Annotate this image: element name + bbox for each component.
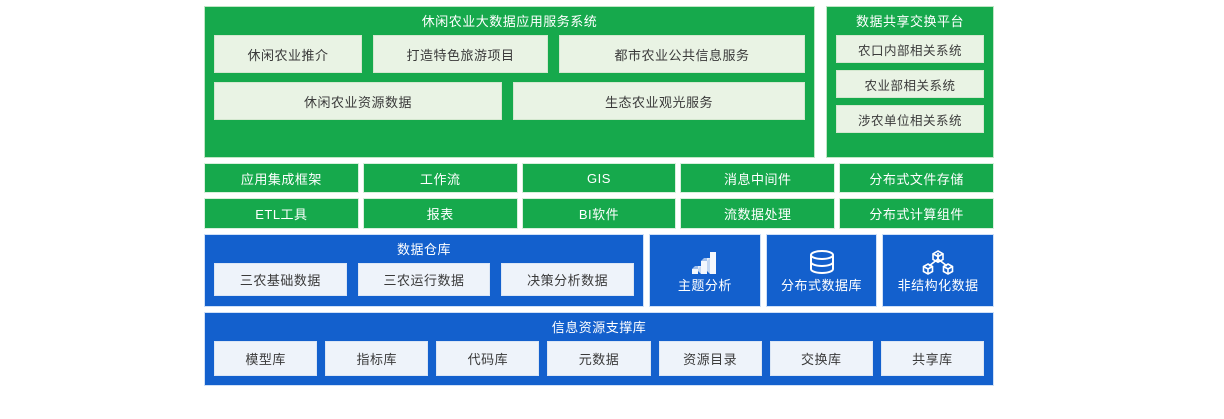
middleware-row-2: ETL工具 报表 BI软件 流数据处理 分布式计算组件 [204,198,994,229]
data-share-exchange-title: 数据共享交换平台 [836,7,984,35]
middleware-app-integration-framework[interactable]: 应用集成框架 [204,163,359,194]
data-warehouse-items: 三农基础数据 三农运行数据 决策分析数据 [214,263,634,296]
app-item-resource-data[interactable]: 休闲农业资源数据 [214,82,502,120]
share-item-ministry-system[interactable]: 农业部相关系统 [836,70,984,98]
database-icon [807,250,837,276]
data-warehouse-row: 数据仓库 三农基础数据 三农运行数据 决策分析数据 主题分析 [204,234,994,307]
analysis-card-unstructured-data[interactable]: 非结构化数据 [882,234,994,307]
architecture-diagram: 休闲农业大数据应用服务系统 休闲农业推介 打造特色旅游项目 都市农业公共信息服务… [204,6,994,386]
share-item-internal-system[interactable]: 农口内部相关系统 [836,35,984,63]
analysis-card-distributed-database[interactable]: 分布式数据库 [766,234,878,307]
bar-chart-icon [689,250,721,276]
middleware-workflow[interactable]: 工作流 [363,163,518,194]
analysis-card-theme-analysis-label: 主题分析 [678,279,732,292]
share-item-agri-unit-system[interactable]: 涉农单位相关系统 [836,105,984,133]
data-warehouse-title: 数据仓库 [214,235,634,263]
middleware-distributed-file-storage[interactable]: 分布式文件存储 [839,163,994,194]
resource-item-metadata[interactable]: 元数据 [547,341,650,376]
resource-item-exchange-base[interactable]: 交换库 [770,341,873,376]
middleware-row-1: 应用集成框架 工作流 GIS 消息中间件 分布式文件存储 [204,163,994,194]
middleware-stream-processing[interactable]: 流数据处理 [680,198,835,229]
data-share-exchange-panel: 数据共享交换平台 农口内部相关系统 农业部相关系统 涉农单位相关系统 [826,6,994,158]
middleware-message-middleware[interactable]: 消息中间件 [680,163,835,194]
app-item-public-info-service[interactable]: 都市农业公共信息服务 [559,35,805,73]
resource-item-code-base[interactable]: 代码库 [436,341,539,376]
resource-item-resource-catalog[interactable]: 资源目录 [659,341,762,376]
resource-item-indicator-base[interactable]: 指标库 [325,341,428,376]
information-resource-title: 信息资源支撑库 [214,313,984,341]
data-warehouse-panel: 数据仓库 三农基础数据 三农运行数据 决策分析数据 [204,234,644,307]
middleware-distributed-computing[interactable]: 分布式计算组件 [839,198,994,229]
app-item-recommend[interactable]: 休闲农业推介 [214,35,362,73]
resource-item-model-base[interactable]: 模型库 [214,341,317,376]
application-service-title: 休闲农业大数据应用服务系统 [214,7,805,35]
middleware-gis[interactable]: GIS [522,163,677,194]
network-cubes-icon [921,250,955,276]
middleware-report[interactable]: 报表 [363,198,518,229]
warehouse-item-decision-data[interactable]: 决策分析数据 [501,263,634,296]
top-layer-row: 休闲农业大数据应用服务系统 休闲农业推介 打造特色旅游项目 都市农业公共信息服务… [204,6,994,158]
warehouse-item-operation-data[interactable]: 三农运行数据 [358,263,491,296]
information-resource-items: 模型库 指标库 代码库 元数据 资源目录 交换库 共享库 [214,341,984,376]
middleware-etl-tool[interactable]: ETL工具 [204,198,359,229]
application-service-row-2: 休闲农业资源数据 生态农业观光服务 [214,82,805,120]
analysis-card-distributed-database-label: 分布式数据库 [781,279,862,292]
warehouse-item-basic-data[interactable]: 三农基础数据 [214,263,347,296]
analysis-card-theme-analysis[interactable]: 主题分析 [649,234,761,307]
information-resource-panel: 信息资源支撑库 模型库 指标库 代码库 元数据 资源目录 交换库 共享库 [204,312,994,386]
analysis-card-unstructured-data-label: 非结构化数据 [898,279,979,292]
middleware-bi-software[interactable]: BI软件 [522,198,677,229]
application-service-panel: 休闲农业大数据应用服务系统 休闲农业推介 打造特色旅游项目 都市农业公共信息服务… [204,6,815,158]
application-service-row-1: 休闲农业推介 打造特色旅游项目 都市农业公共信息服务 [214,35,805,73]
app-item-tourism-project[interactable]: 打造特色旅游项目 [373,35,548,73]
resource-item-share-base[interactable]: 共享库 [881,341,984,376]
app-item-eco-sightseeing[interactable]: 生态农业观光服务 [513,82,805,120]
